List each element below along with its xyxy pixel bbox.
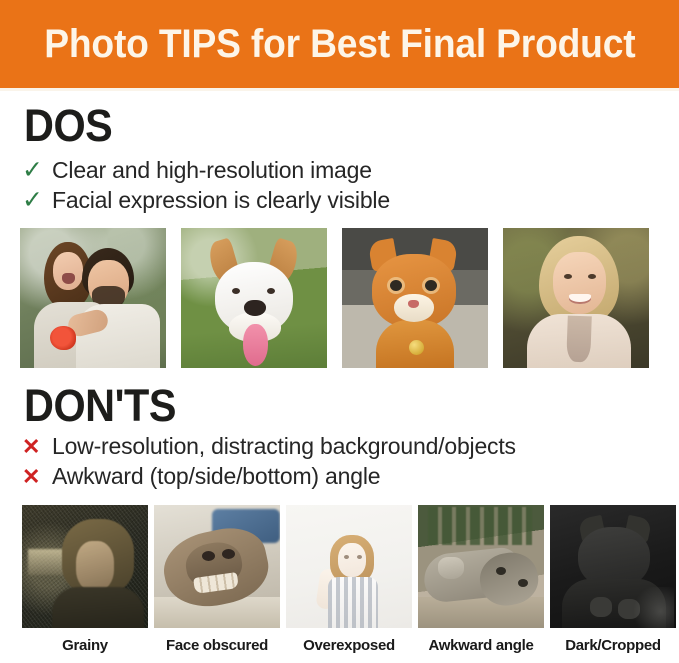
woman-face	[553, 252, 606, 314]
woman-smile	[569, 294, 591, 304]
dog-eye-left	[232, 288, 240, 294]
donts-photo-caption: Grainy	[62, 637, 108, 655]
faceobscured-nostril-left	[202, 551, 215, 561]
grainy-child-face	[76, 541, 114, 591]
overexposed-child-dress	[328, 577, 378, 628]
donts-photo-cell: Awkward angle	[418, 505, 544, 655]
dos-photo-row	[20, 228, 649, 368]
cross-icon: ✕	[22, 432, 52, 462]
woman-eye-right	[588, 274, 596, 279]
dog-tongue	[243, 324, 268, 366]
grainy-child-body	[52, 587, 144, 628]
awkward-background-window	[428, 507, 532, 545]
photo-orange-tabby-cat	[342, 228, 488, 368]
check-icon: ✓	[22, 185, 52, 215]
check-icon: ✓	[22, 155, 52, 185]
cat-nose	[408, 300, 419, 308]
donts-bullet-item: ✕ Low-resolution, distracting background…	[22, 431, 516, 461]
donts-bullet-label: Awkward (top/side/bottom) angle	[52, 461, 380, 491]
dos-bullet-item: ✓ Facial expression is clearly visible	[22, 185, 390, 215]
photo-dog-face-obscured	[154, 505, 280, 628]
dos-photo-cell	[503, 228, 649, 368]
woman-eye-left	[564, 274, 572, 279]
dos-bullet-label: Clear and high-resolution image	[52, 155, 372, 185]
dark-cat-paw-left	[590, 597, 612, 617]
photo-blonde-woman-portrait	[503, 228, 649, 368]
photo-grainy-child	[22, 505, 148, 628]
donts-photo-caption: Face obscured	[166, 637, 268, 655]
donts-photo-cell: Overexposed	[286, 505, 412, 655]
donts-photo-cell: Face obscured	[154, 505, 280, 655]
awkward-cat-eye-right	[518, 579, 528, 587]
dos-photo-cell	[181, 228, 327, 368]
photo-overexposed-child	[286, 505, 412, 628]
page-title: Photo TIPS for Best Final Product	[44, 24, 635, 64]
cat-collar-bell	[409, 340, 424, 355]
photo-tips-infographic: Photo TIPS for Best Final Product DOS ✓ …	[0, 0, 679, 663]
awkward-cat-paw	[438, 557, 464, 579]
faceobscured-nostril-right	[222, 549, 235, 559]
cross-icon: ✕	[22, 462, 52, 492]
dos-photo-cell	[20, 228, 166, 368]
couple-woman-face	[53, 252, 83, 290]
dark-cat-highlight	[630, 587, 674, 628]
donts-photo-cell: Grainy	[22, 505, 148, 655]
photo-cat-awkward-angle	[418, 505, 544, 628]
dos-bullet-label: Facial expression is clearly visible	[52, 185, 390, 215]
overexposed-eye-left	[344, 555, 349, 559]
dos-bullet-item: ✓ Clear and high-resolution image	[22, 155, 390, 185]
dog-eye-right	[267, 288, 275, 294]
cat-muzzle	[394, 294, 434, 322]
woman-collar	[566, 316, 592, 363]
donts-bullet-item: ✕ Awkward (top/side/bottom) angle	[22, 461, 516, 491]
donts-photo-cell: Dark/Cropped	[550, 505, 676, 655]
dog-nose	[244, 300, 266, 316]
header-banner: Photo TIPS for Best Final Product	[0, 0, 679, 88]
photo-dark-cropped-cat	[550, 505, 676, 628]
banner-underline-divider	[0, 88, 679, 91]
photo-smiling-couple-outdoors	[20, 228, 166, 368]
donts-bullet-list: ✕ Low-resolution, distracting background…	[22, 431, 516, 491]
donts-photo-row: Grainy Face obscured	[22, 505, 676, 655]
couple-woman-mouth	[62, 273, 75, 284]
donts-photo-caption: Dark/Cropped	[565, 637, 661, 655]
overexposed-child-face	[338, 543, 366, 577]
awkward-floor	[418, 597, 544, 628]
donts-heading: DON'TS	[24, 383, 176, 428]
cat-eye-left	[390, 280, 402, 291]
donts-photo-caption: Overexposed	[303, 637, 395, 655]
awkward-cat-eye-left	[496, 567, 506, 575]
overexposed-eye-right	[357, 555, 362, 559]
dos-bullet-list: ✓ Clear and high-resolution image ✓ Faci…	[22, 155, 390, 215]
donts-photo-caption: Awkward angle	[428, 637, 533, 655]
donts-bullet-label: Low-resolution, distracting background/o…	[52, 431, 516, 461]
photo-white-dog-smiling	[181, 228, 327, 368]
dos-photo-cell	[342, 228, 488, 368]
cat-eye-right	[425, 280, 437, 291]
dos-heading: DOS	[24, 103, 112, 148]
couple-red-flower	[50, 326, 76, 350]
